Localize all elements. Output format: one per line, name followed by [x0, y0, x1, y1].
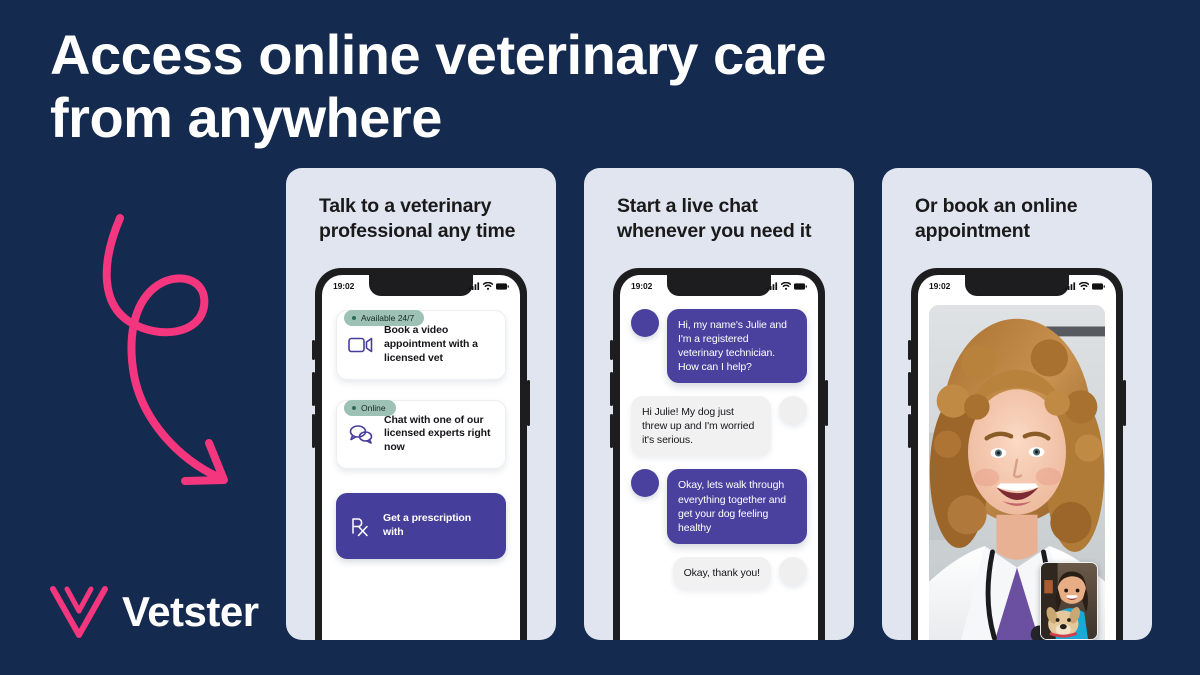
status-badge-available: Available 24/7 — [344, 310, 424, 326]
card-book-appointment: Or book an online appointment 19:02 — [882, 168, 1152, 640]
phone-volume-up-button — [610, 372, 613, 406]
chat-message: Okay, thank you! — [631, 557, 807, 589]
get-prescription-button[interactable]: Get a prescription with — [336, 493, 506, 559]
cellular-signal-icon — [1065, 282, 1076, 290]
chat-thread: Hi, my name's Julie and I'm a registered… — [620, 303, 818, 640]
chat-bubble: Hi Julie! My dog just threw up and I'm w… — [631, 396, 771, 456]
badge-label: Online — [361, 403, 386, 413]
vet-options-list: Available 24/7 Book a video appointment … — [322, 301, 520, 640]
phone-volume-up-button — [312, 372, 315, 406]
vetster-logo[interactable]: Vetster — [50, 585, 259, 639]
status-badge-online: Online — [344, 400, 396, 416]
phone-volume-up-button — [908, 372, 911, 406]
status-bar: 19:02 — [620, 275, 818, 297]
phone-power-button — [1123, 380, 1126, 426]
battery-icon — [1092, 283, 1105, 290]
phone-volume-down-button — [610, 414, 613, 448]
phone-mockup: 19:02 — [315, 268, 527, 640]
card-talk-to-vet: Talk to a veterinary professional any ti… — [286, 168, 556, 640]
phone-screen: 19:02 — [322, 275, 520, 640]
phone-mute-button — [610, 340, 613, 360]
avatar — [631, 469, 659, 497]
battery-icon — [496, 283, 509, 290]
chat-message: Hi, my name's Julie and I'm a registered… — [631, 309, 807, 383]
status-dot-icon — [352, 406, 356, 410]
phone-mockup: 19:02 — [613, 268, 825, 640]
headline-line-2: from anywhere — [50, 87, 950, 150]
wifi-icon — [1079, 282, 1089, 290]
chat-message: Okay, lets walk through everything toget… — [631, 469, 807, 543]
cellular-signal-icon — [469, 282, 480, 290]
phone-volume-down-button — [312, 414, 315, 448]
card-title: Talk to a veterinary professional any ti… — [319, 194, 540, 244]
badge-label: Available 24/7 — [361, 313, 414, 323]
feature-cards: Talk to a veterinary professional any ti… — [286, 168, 1170, 640]
status-bar: 19:02 — [322, 275, 520, 297]
page-title: Access online veterinary care from anywh… — [50, 24, 950, 149]
battery-icon — [794, 283, 807, 290]
option-label: Book a video appointment with a licensed… — [384, 324, 493, 366]
status-bar: 19:02 — [918, 275, 1116, 297]
avatar — [779, 396, 807, 424]
vetster-v-icon — [50, 585, 108, 639]
chat-bubble: Okay, lets walk through everything toget… — [667, 469, 807, 543]
brand-name: Vetster — [122, 591, 259, 633]
headline-line-1: Access online veterinary care — [50, 23, 826, 86]
phone-screen: 19:02 — [620, 275, 818, 640]
card-title: Or book an online appointment — [915, 194, 1136, 244]
status-icons — [1065, 282, 1105, 290]
phone-power-button — [527, 380, 530, 426]
wifi-icon — [781, 282, 791, 290]
video-camera-icon — [347, 336, 375, 354]
chat-message: Hi Julie! My dog just threw up and I'm w… — [631, 396, 807, 456]
avatar — [631, 309, 659, 337]
avatar — [779, 557, 807, 585]
wifi-icon — [483, 282, 493, 290]
phone-power-button — [825, 380, 828, 426]
cta-label: Get a prescription with — [383, 512, 494, 540]
status-dot-icon — [352, 316, 356, 320]
status-clock: 19:02 — [333, 281, 354, 291]
status-icons — [767, 282, 807, 290]
status-icons — [469, 282, 509, 290]
chat-bubble: Hi, my name's Julie and I'm a registered… — [667, 309, 807, 383]
status-clock: 19:02 — [631, 281, 652, 291]
option-label: Chat with one of our licensed experts ri… — [384, 414, 493, 456]
status-clock: 19:02 — [929, 281, 950, 291]
cellular-signal-icon — [767, 282, 778, 290]
card-live-chat: Start a live chat whenever you need it 1… — [584, 168, 854, 640]
video-call-screen — [929, 305, 1105, 640]
card-title: Start a live chat whenever you need it — [617, 194, 838, 244]
curly-arrow-icon — [88, 210, 258, 490]
chat-bubbles-icon — [347, 424, 375, 444]
phone-mute-button — [312, 340, 315, 360]
phone-mockup: 19:02 — [911, 268, 1123, 640]
phone-volume-down-button — [908, 414, 911, 448]
option-live-chat[interactable]: Online Chat with one — [336, 400, 506, 470]
option-video-appointment[interactable]: Available 24/7 Book a video appointment … — [336, 310, 506, 380]
phone-mute-button — [908, 340, 911, 360]
chat-bubble: Okay, thank you! — [673, 557, 771, 589]
pet-owner-with-dog-video-feed — [1040, 562, 1098, 640]
phone-screen: 19:02 — [918, 275, 1116, 640]
rx-prescription-icon — [346, 514, 374, 538]
